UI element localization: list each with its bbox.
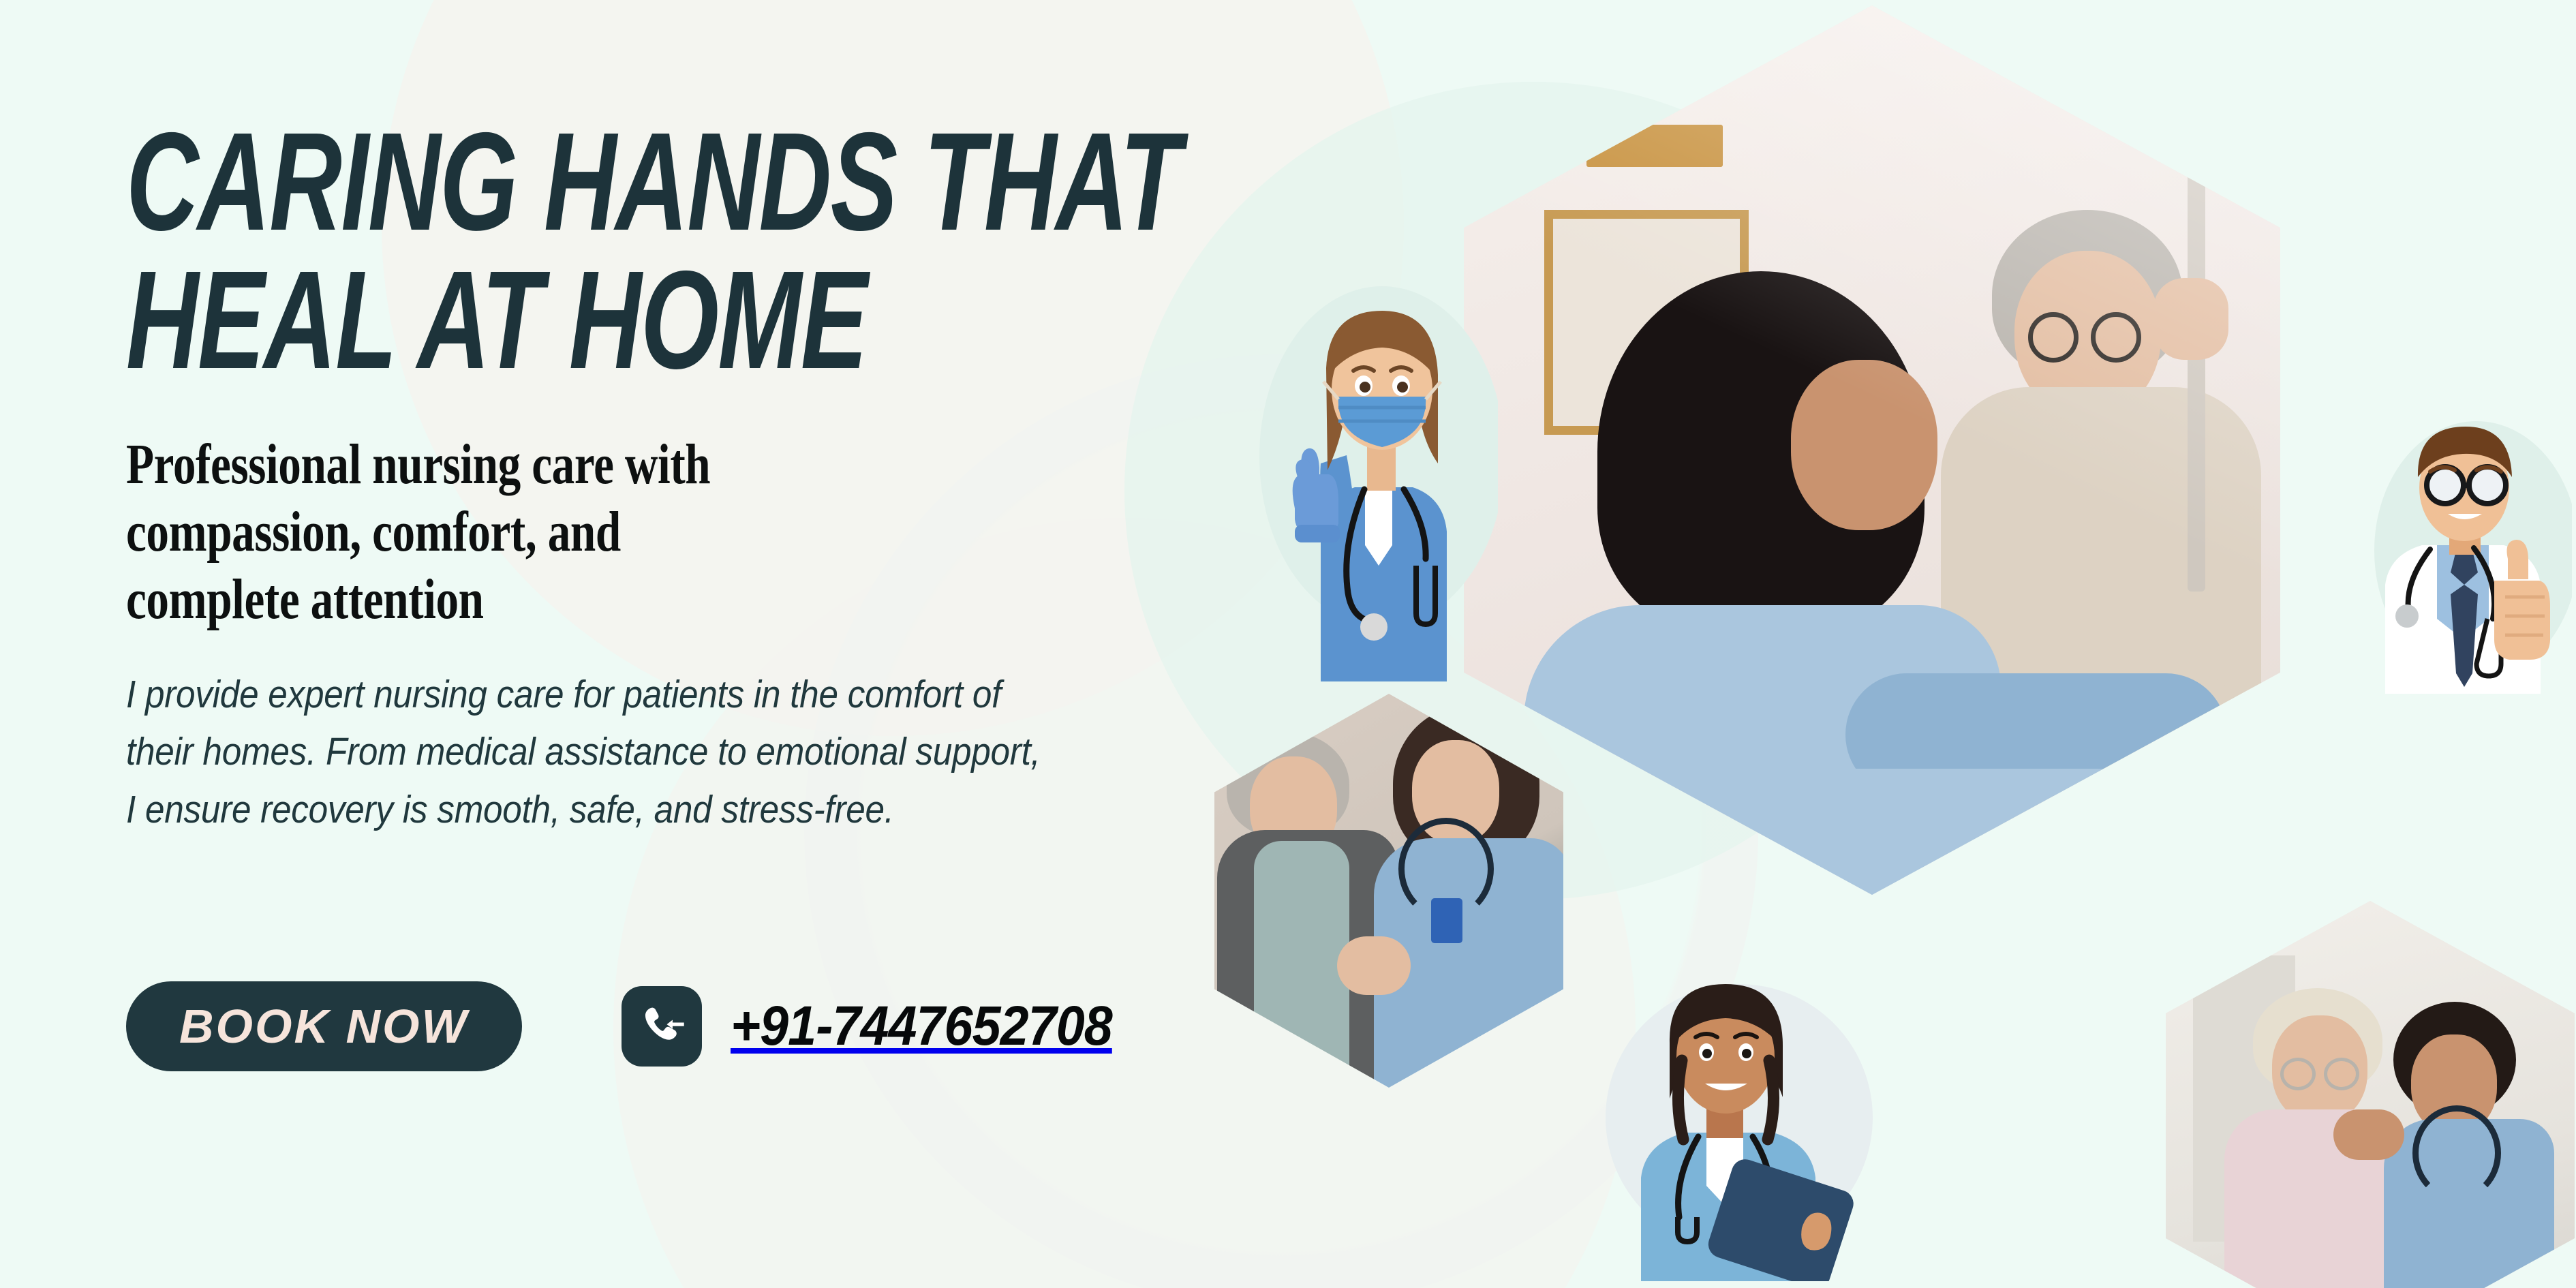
book-now-label: BOOK NOW: [179, 999, 469, 1054]
book-now-button[interactable]: BOOK NOW: [126, 981, 522, 1071]
nurse-with-clipboard-illustration: [1603, 961, 1875, 1281]
phone-number-text: +91-7447652708: [731, 994, 1112, 1058]
page-title: CARING HANDS THAT HEAL AT HOME: [126, 116, 931, 387]
cta-row: BOOK NOW +91-7447652708: [126, 981, 1145, 1071]
nurse-pointing-illustration: [1253, 273, 1498, 681]
hero-text-column: CARING HANDS THAT HEAL AT HOME Professio…: [126, 116, 1244, 838]
doctor-thumbs-up-illustration: [2374, 414, 2572, 694]
incoming-call-icon: [622, 986, 702, 1067]
nurse-hugging-patient-photo: [2166, 901, 2575, 1288]
phone-contact-link[interactable]: +91-7447652708: [622, 986, 1145, 1067]
headline-line-1: CARING HANDS THAT: [126, 116, 931, 249]
hero-banner: CARING HANDS THAT HEAL AT HOME Professio…: [0, 0, 2576, 1288]
subheadline: Professional nursing care with compassio…: [126, 431, 769, 633]
body-paragraph: I provide expert nursing care for patien…: [126, 666, 1046, 838]
headline-line-2: HEAL AT HOME: [126, 254, 931, 387]
